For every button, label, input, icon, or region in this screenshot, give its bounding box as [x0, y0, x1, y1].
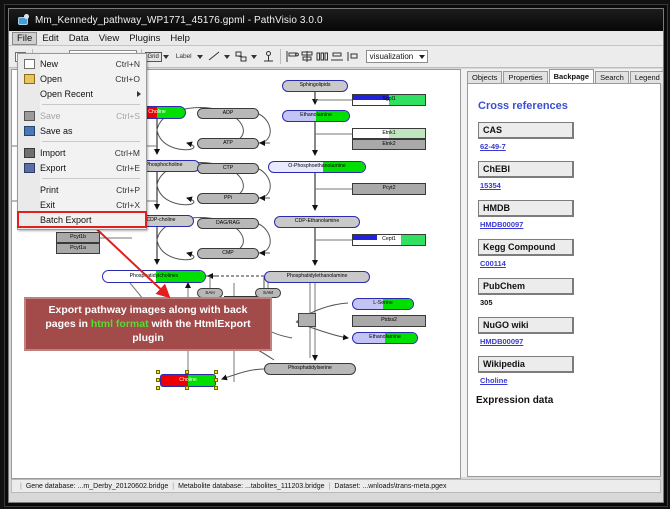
- node-cept1[interactable]: Cept1: [352, 234, 426, 246]
- toolbar-separator: [280, 49, 281, 64]
- node-label: Choline: [148, 110, 166, 115]
- xref-source-cas: CAS: [478, 122, 574, 139]
- file-menu-accel: Ctrl+E: [116, 163, 146, 173]
- pathvisio-icon: [17, 14, 30, 27]
- node-ctp[interactable]: CTP: [197, 163, 259, 174]
- label-button[interactable]: Label: [173, 49, 195, 64]
- chevron-down-icon[interactable]: [251, 55, 257, 59]
- status-metabolite-database: Metabolite database: ...tabolites_111203…: [178, 483, 324, 490]
- node-ptdss2[interactable]: Ptdss2: [352, 315, 426, 327]
- node-label: O-Phosphoethanolamine: [288, 164, 345, 169]
- screenshot-root: Mm_Kennedy_pathway_WP1771_45176.gpml - P…: [0, 0, 670, 509]
- open-folder-icon: [18, 74, 40, 84]
- status-dataset: Dataset: ...wnloads\trans-meta.pgex: [334, 483, 446, 490]
- node-label: Pcyt1a: [70, 246, 86, 251]
- save-icon: [18, 111, 40, 121]
- cross-references-title: Cross references: [478, 100, 660, 112]
- menu-file[interactable]: File: [12, 32, 37, 45]
- selection-handle[interactable]: [156, 386, 160, 390]
- node-label: Pcyt2: [383, 186, 396, 191]
- xref-value-kegg[interactable]: C00114: [480, 259, 660, 268]
- stack-icon[interactable]: [330, 49, 345, 64]
- node-o-phosphoethanolamine[interactable]: O-Phosphoethanolamine: [268, 161, 366, 173]
- node-phosphatidylethanolamine[interactable]: Phosphatidylethanolamine: [264, 271, 370, 283]
- node-label: Phosphatidylserine: [288, 366, 332, 371]
- file-menu-label: Exit: [40, 200, 116, 210]
- xref-source-pubchem: PubChem: [478, 278, 574, 295]
- status-divider: |: [172, 483, 174, 490]
- status-divider: |: [329, 483, 331, 490]
- xref-value-pubchem: 305: [480, 298, 660, 307]
- node-label: Ethanolamine: [369, 335, 401, 340]
- file-menu-label: New: [40, 59, 116, 69]
- file-menu-label: Print: [40, 185, 116, 195]
- node-etnk1[interactable]: Etnk1: [352, 128, 426, 139]
- xref-source-nugo: NuGO wiki: [478, 317, 574, 334]
- export-icon: [18, 163, 40, 173]
- node-label: Ethanolamine: [300, 113, 332, 118]
- distribute-icon[interactable]: [315, 49, 330, 64]
- xref-source-wikipedia: Wikipedia: [478, 356, 574, 373]
- menu-separator: [42, 141, 140, 142]
- status-divider: |: [20, 483, 22, 490]
- title-bar: Mm_Kennedy_pathway_WP1771_45176.gpml - P…: [9, 9, 663, 31]
- node-label: Cept1: [382, 237, 396, 242]
- callout-highlight: html format: [91, 318, 149, 330]
- file-menu-item-open-recent[interactable]: Open Recent: [18, 86, 146, 101]
- file-menu-accel: Ctrl+P: [116, 185, 146, 195]
- node-label: DAG/RAG: [216, 221, 240, 226]
- chevron-down-icon: [419, 55, 425, 59]
- callout-text-after: with the HtmlExport plugin: [132, 318, 250, 344]
- node-etnk2[interactable]: Etnk2: [352, 139, 426, 150]
- selection-handle[interactable]: [185, 370, 189, 374]
- node-pcyt1b[interactable]: Pcyt1b: [56, 232, 100, 243]
- shape-tool-icon[interactable]: [234, 49, 249, 64]
- xref-value-cas[interactable]: 62-49-7: [480, 142, 660, 151]
- align-left-icon[interactable]: [285, 49, 300, 64]
- node-label: CDP-choline: [146, 218, 175, 223]
- node-label: ADP: [223, 111, 234, 116]
- file-menu-item-import[interactable]: Import Ctrl+M: [18, 145, 146, 160]
- node-label: Ptdss2: [381, 318, 397, 323]
- node-label: SAH: [205, 291, 214, 296]
- chevron-down-icon[interactable]: [224, 55, 230, 59]
- xref-value-wikipedia[interactable]: Choline: [480, 376, 660, 385]
- import-icon: [18, 148, 40, 158]
- file-menu-item-print[interactable]: Print Ctrl+P: [18, 182, 146, 197]
- selection-handle[interactable]: [156, 370, 160, 374]
- anchor-tool-icon[interactable]: [261, 49, 276, 64]
- node-adp[interactable]: ADP: [197, 108, 259, 119]
- file-menu-item-batch-export[interactable]: Batch Export: [18, 212, 146, 227]
- menu-help[interactable]: Help: [165, 32, 195, 45]
- reaction-node-box-2: [298, 313, 316, 327]
- side-panel-tabs: Objects Properties Backpage Search Legen…: [467, 69, 661, 84]
- menu-separator: [42, 104, 140, 105]
- chevron-down-icon[interactable]: [197, 55, 203, 59]
- node-pcyt1a[interactable]: Pcyt1a: [56, 243, 100, 254]
- menu-edit[interactable]: Edit: [37, 32, 63, 45]
- file-menu-accel: Ctrl+M: [115, 148, 146, 158]
- new-page-icon: [18, 59, 40, 69]
- node-dag-rag[interactable]: DAG/RAG: [197, 218, 259, 229]
- node-atp[interactable]: ATP: [197, 138, 259, 149]
- pathvisio-window: Mm_Kennedy_pathway_WP1771_45176.gpml - P…: [8, 8, 664, 503]
- file-menu-item-new[interactable]: New Ctrl+N: [18, 56, 146, 71]
- file-menu-accel: Ctrl+O: [115, 74, 146, 84]
- xref-source-hmdb: HMDB: [478, 200, 574, 217]
- menu-data[interactable]: Data: [64, 32, 94, 45]
- node-label: CTP: [223, 166, 233, 171]
- selection-handle[interactable]: [214, 378, 218, 382]
- node-ppi[interactable]: PPi: [197, 193, 259, 204]
- node-label: L-Serine: [373, 301, 393, 306]
- align-center-icon[interactable]: [300, 49, 315, 64]
- node-label: PPi: [224, 196, 232, 201]
- grid-button[interactable]: Grid: [146, 49, 161, 64]
- node-l-serine[interactable]: L-Serine: [352, 298, 414, 310]
- file-menu-label: Export: [40, 163, 116, 173]
- file-menu-label: Save as: [40, 126, 140, 136]
- selection-handle[interactable]: [214, 370, 218, 374]
- node-cdp-ethanolamine[interactable]: CDP-Ethanolamine: [274, 216, 360, 228]
- node-label: Phosphatidylethanolamine: [287, 274, 348, 279]
- file-menu-item-save-as[interactable]: Save as: [18, 123, 146, 138]
- node-label: Sgpl1: [382, 97, 395, 102]
- node-ethanolamine-bottom[interactable]: Ethanolamine: [352, 332, 418, 344]
- node-label: CMP: [222, 251, 234, 256]
- status-bar: | Gene database: ...m_Derby_20120602.bri…: [11, 479, 661, 493]
- xref-source-chebi: ChEBI: [478, 161, 574, 178]
- file-menu-item-save: Save Ctrl+S: [18, 108, 146, 123]
- node-label: Choline: [179, 378, 197, 383]
- save-as-icon: [18, 126, 40, 136]
- node-label: ATP: [223, 141, 233, 146]
- xref-value-chebi[interactable]: 15354: [480, 181, 660, 190]
- selection-handle[interactable]: [214, 386, 218, 390]
- status-gene-database: Gene database: ...m_Derby_20120602.bridg…: [26, 483, 168, 490]
- file-menu-label: Open Recent: [40, 89, 146, 99]
- node-label: Etnk1: [382, 131, 395, 136]
- chevron-down-icon[interactable]: [163, 55, 169, 59]
- file-menu-accel: Ctrl+X: [116, 200, 146, 210]
- file-menu-accel: Ctrl+S: [116, 111, 146, 121]
- xref-value-nugo[interactable]: HMDB00097: [480, 337, 660, 346]
- menu-plugins[interactable]: Plugins: [124, 32, 165, 45]
- selection-handle[interactable]: [185, 386, 189, 390]
- expression-data-title: Expression data: [476, 395, 660, 406]
- node-label: SAM: [263, 291, 273, 296]
- tab-backpage[interactable]: Backpage: [549, 69, 594, 84]
- file-menu-label: Batch Export: [40, 215, 146, 225]
- selection-handle[interactable]: [156, 378, 160, 382]
- node-label: Phosphatidylcholines: [130, 274, 179, 279]
- node-label: Sphingolipids: [300, 83, 331, 88]
- visualization-value: visualization: [370, 52, 414, 61]
- line-tool-icon[interactable]: [207, 49, 222, 64]
- node-cmp[interactable]: CMP: [197, 248, 259, 259]
- file-menu-accel: Ctrl+N: [116, 59, 146, 69]
- file-menu-item-open[interactable]: Open Ctrl+O: [18, 71, 146, 86]
- visualization-combo[interactable]: visualization: [366, 50, 428, 63]
- file-menu-label: Import: [40, 148, 115, 158]
- file-menu-item-export[interactable]: Export Ctrl+E: [18, 160, 146, 175]
- node-sgpl1[interactable]: Sgpl1: [352, 94, 426, 106]
- node-label: CDP-Ethanolamine: [295, 219, 339, 224]
- window-title: Mm_Kennedy_pathway_WP1771_45176.gpml - P…: [35, 15, 323, 26]
- annotation-callout: Export pathway images along with back pa…: [24, 297, 272, 351]
- node-label: Etnk2: [382, 142, 395, 147]
- node-ethanolamine-top[interactable]: Ethanolamine: [282, 110, 350, 122]
- backpage-content: Cross references CAS 62-49-7 ChEBI 15354…: [467, 83, 661, 477]
- node-label: Pcyt1b: [70, 235, 86, 240]
- file-menu-label: Open: [40, 74, 115, 84]
- menu-bar: File Edit Data View Plugins Help: [9, 31, 663, 46]
- file-menu-label: Save: [40, 111, 116, 121]
- group-icon[interactable]: [345, 49, 360, 64]
- node-label: Phosphocholine: [146, 163, 183, 168]
- file-menu-dropdown[interactable]: New Ctrl+N Open Ctrl+O Open Recent Save …: [17, 53, 147, 230]
- xref-source-kegg: Kegg Compound: [478, 239, 574, 256]
- node-phosphatidylserine[interactable]: Phosphatidylserine: [264, 363, 356, 375]
- node-phosphatidylcholines[interactable]: Phosphatidylcholines: [102, 270, 206, 283]
- node-pcyt2[interactable]: Pcyt2: [352, 183, 426, 195]
- file-menu-item-exit[interactable]: Exit Ctrl+X: [18, 197, 146, 212]
- menu-view[interactable]: View: [94, 32, 124, 45]
- xref-value-hmdb[interactable]: HMDB00097: [480, 220, 660, 229]
- node-sphingolipids[interactable]: Sphingolipids: [282, 80, 348, 92]
- menu-separator: [42, 178, 140, 179]
- side-panel: Objects Properties Backpage Search Legen…: [461, 69, 661, 477]
